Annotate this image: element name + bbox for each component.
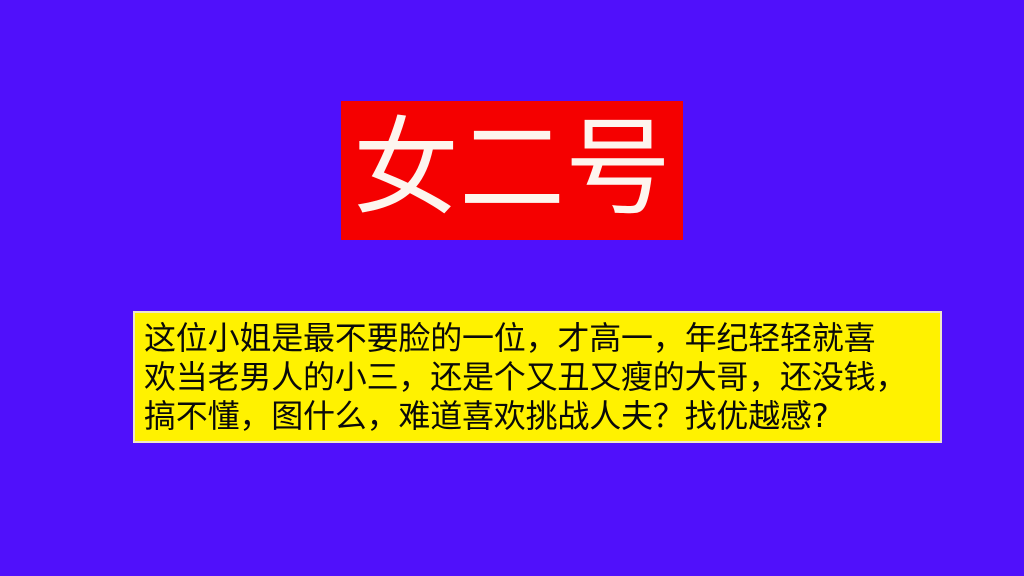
caption-line-3: 搞不懂，图什么，难道喜欢挑战人夫？找优越感? (144, 397, 933, 436)
caption-line-1: 这位小姐是最不要脸的一位，才高一，年纪轻轻就喜 (144, 319, 933, 358)
page-title: 女二号 (353, 116, 671, 222)
caption-line-2: 欢当老男人的小三，还是个又丑又瘦的大哥，还没钱， (144, 358, 933, 397)
slide-canvas: 女二号 这位小姐是最不要脸的一位，才高一，年纪轻轻就喜 欢当老男人的小三，还是个… (0, 0, 1024, 576)
caption-box: 这位小姐是最不要脸的一位，才高一，年纪轻轻就喜 欢当老男人的小三，还是个又丑又瘦… (133, 311, 942, 443)
title-banner: 女二号 (341, 101, 683, 240)
